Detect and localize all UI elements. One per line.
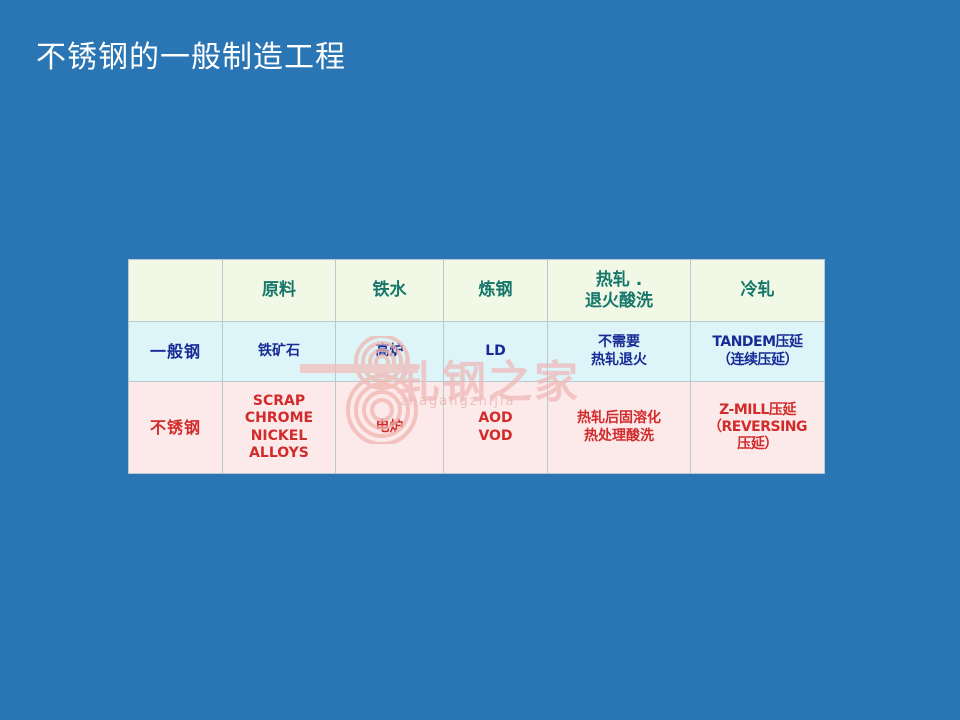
header-cell-hot-rolling: 热轧 . 退火酸洗 — [548, 260, 691, 322]
cell-ordinary-hot-rolling: 不需要 热轧退火 — [548, 322, 691, 382]
cell-stainless-steelmaking: AOD VOD — [444, 382, 548, 474]
header-cell-molten-iron: 铁水 — [336, 260, 444, 322]
cell-stainless-molten-iron: 电炉 — [336, 382, 444, 474]
table-row-ordinary-steel: 一般钢 铁矿石 高炉 LD 不需要 热轧退火 TANDEM压延 （连续压延） — [129, 322, 825, 382]
table-header-row: 原料 铁水 炼钢 热轧 . 退火酸洗 冷轧 — [129, 260, 825, 322]
slide-canvas: 不锈钢的一般制造工程 轧钢之家 zhagangzhijia — [0, 0, 960, 720]
page-title: 不锈钢的一般制造工程 — [36, 38, 346, 78]
cell-stainless-cold-rolling: Z-MILL压延 （REVERSING 压延） — [691, 382, 825, 474]
row-label-stainless-steel: 不锈钢 — [129, 382, 223, 474]
cell-ordinary-molten-iron: 高炉 — [336, 322, 444, 382]
cell-stainless-hot-rolling: 热轧后固溶化 热处理酸洗 — [548, 382, 691, 474]
header-cell-steelmaking: 炼钢 — [444, 260, 548, 322]
process-comparison-table: 原料 铁水 炼钢 热轧 . 退火酸洗 冷轧 一般钢 — [128, 259, 825, 474]
table-row-stainless-steel: 不锈钢 SCRAP CHROME NICKEL ALLOYS 电炉 AOD VO… — [129, 382, 825, 474]
header-cell-cold-rolling: 冷轧 — [691, 260, 825, 322]
cell-stainless-raw-material: SCRAP CHROME NICKEL ALLOYS — [223, 382, 336, 474]
cell-ordinary-steelmaking: LD — [444, 322, 548, 382]
row-label-ordinary-steel: 一般钢 — [129, 322, 223, 382]
header-cell-raw-material: 原料 — [223, 260, 336, 322]
cell-ordinary-raw-material: 铁矿石 — [223, 322, 336, 382]
cell-ordinary-cold-rolling: TANDEM压延 （连续压延） — [691, 322, 825, 382]
header-corner-cell — [129, 260, 223, 322]
